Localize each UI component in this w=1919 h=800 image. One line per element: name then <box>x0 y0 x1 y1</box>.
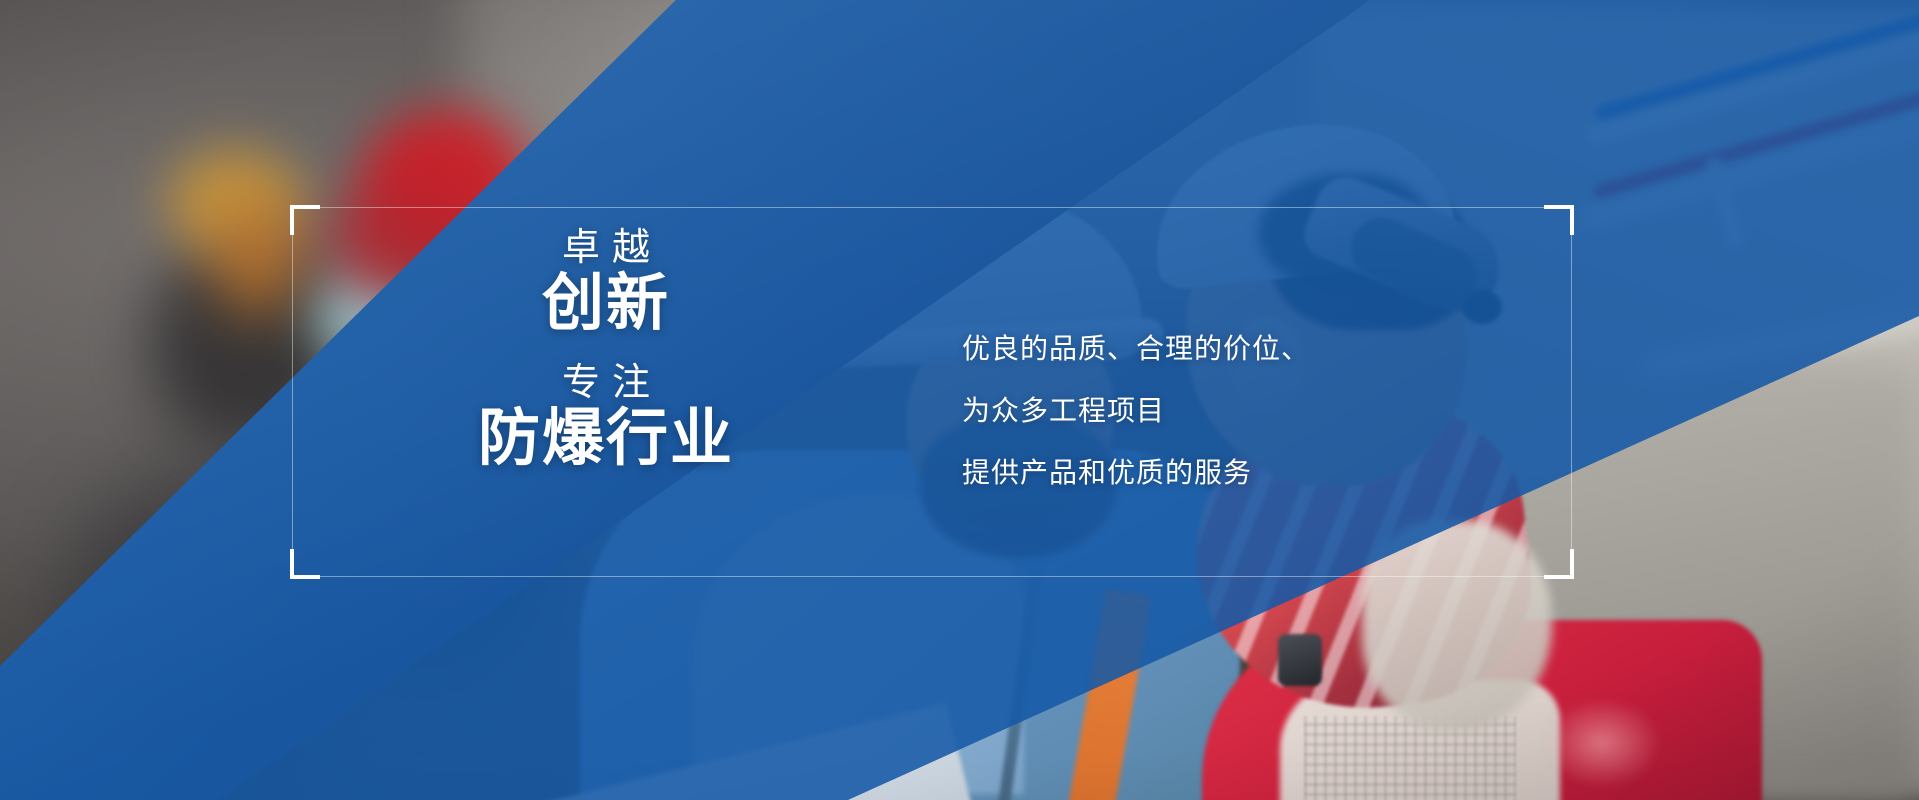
description-line-3: 提供产品和优质的服务 <box>962 442 1432 504</box>
headline-sub-2: 专注 <box>436 363 776 403</box>
frame-line-top <box>292 207 1572 208</box>
description-block: 优良的品质、合理的价位、 为众多工程项目 提供产品和优质的服务 <box>962 318 1432 504</box>
description-line-2: 为众多工程项目 <box>962 380 1432 442</box>
headline-main-2: 防爆行业 <box>436 405 776 472</box>
hero-banner: 卓越 创新 专注 防爆行业 优良的品质、合理的价位、 为众多工程项目 提供产品和… <box>0 0 1919 800</box>
headline-main-1: 创新 <box>436 270 776 337</box>
frame-line-left <box>292 207 293 577</box>
frame-line-right <box>1571 207 1572 577</box>
description-line-1: 优良的品质、合理的价位、 <box>962 318 1432 380</box>
headline-sub-1: 卓越 <box>436 228 776 268</box>
headline-block: 卓越 创新 专注 防爆行业 <box>436 228 776 472</box>
frame-line-bottom <box>292 576 1572 577</box>
